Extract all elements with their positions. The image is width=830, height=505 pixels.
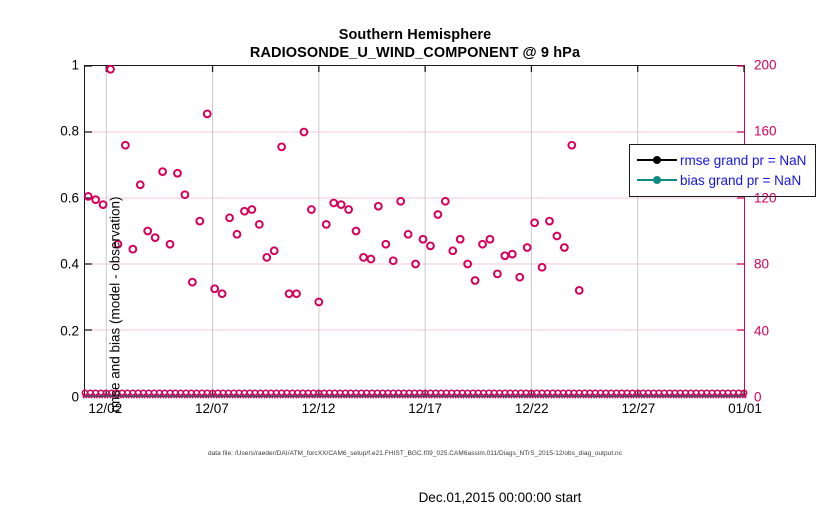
x-tick-1: 12/07	[195, 401, 229, 416]
x-tick-5: 12/27	[621, 401, 655, 416]
y-tick-left-2: 0.4	[60, 257, 79, 272]
y-tick-left-3: 0.6	[60, 190, 79, 205]
chart-title-variable: RADIOSONDE_U_WIND_COMPONENT @ 9 hPa	[0, 44, 830, 63]
y-axis-label-left: rmse and bias (model - observation)	[108, 125, 123, 485]
y-tick-left-1: 0.2	[60, 323, 79, 338]
x-tick-6: 01/01	[728, 401, 762, 416]
y-tick-right-2: 80	[754, 257, 769, 272]
x-tick-4: 12/22	[515, 401, 549, 416]
x-tick-3: 12/17	[408, 401, 442, 416]
legend-item-rmse: rmse grand pr = NaN	[637, 150, 806, 170]
chart-title: Southern Hemisphere RADIOSONDE_U_WIND_CO…	[0, 26, 830, 63]
x-tick-2: 12/12	[302, 401, 336, 416]
legend-label-rmse: rmse grand pr = NaN	[680, 153, 806, 168]
x-tick-0: 12/02	[88, 401, 122, 416]
plot-area: rmse and bias (model - observation) # of…	[84, 65, 745, 397]
figure-canvas: Southern Hemisphere RADIOSONDE_U_WIND_CO…	[0, 0, 830, 470]
bias-line-marker-icon	[637, 173, 677, 187]
legend-item-bias: bias grand pr = NaN	[637, 170, 806, 190]
y-tick-right-1: 40	[754, 323, 769, 338]
legend: rmse grand pr = NaN bias grand pr = NaN	[629, 144, 816, 197]
y-tick-left-0: 0	[71, 390, 79, 405]
y-tick-right-4: 160	[754, 124, 777, 139]
y-tick-right-3: 120	[754, 190, 777, 205]
y-tick-right-5: 200	[754, 58, 777, 73]
data-file-note: data file: /Users/raeder/DAI/ATM_forcXX/…	[0, 450, 830, 457]
y-tick-left-5: 1	[71, 58, 79, 73]
rmse-line-marker-icon	[637, 153, 677, 167]
y-tick-left-4: 0.8	[60, 124, 79, 139]
data-markers	[85, 66, 744, 396]
legend-label-bias: bias grand pr = NaN	[680, 173, 801, 188]
x-axis-label: Dec.01,2015 00:00:00 start	[85, 490, 830, 505]
chart-title-region: Southern Hemisphere	[0, 26, 830, 44]
